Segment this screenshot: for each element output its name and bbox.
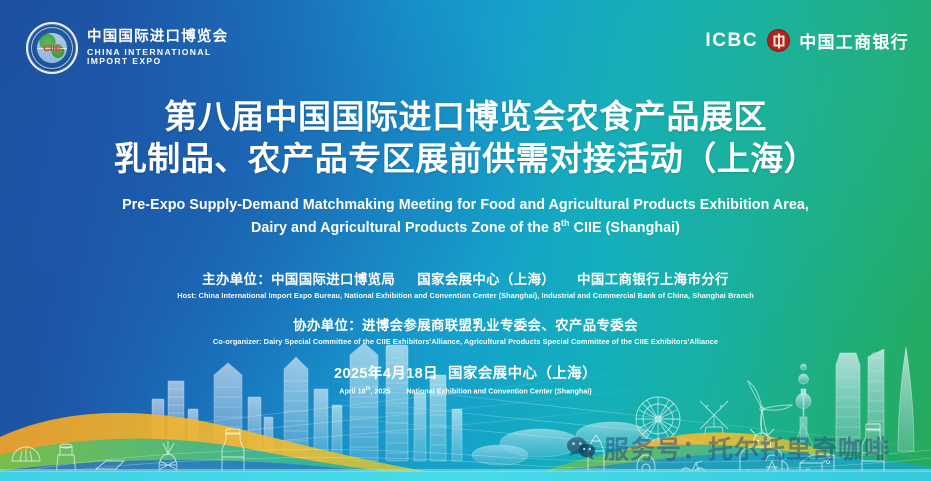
host-cn-3: 中国工商银行上海市分行 [577, 272, 729, 287]
ciie-logo-text: 中国国际进口博览会 CHINA INTERNATIONAL IMPORT EXP… [87, 30, 228, 66]
title-en-line2-a: Dairy and Agricultural Products Zone of … [251, 220, 561, 236]
title-cn-line1: 第八届中国国际进口博览会农食产品展区 [0, 96, 931, 138]
host-cn-1: 中国国际进口博览局 [271, 272, 395, 287]
title-en-line1: Pre-Expo Supply-Demand Matchmaking Meeti… [0, 194, 931, 216]
host-en: Host: China International Import Expo Bu… [0, 291, 931, 300]
icbc-emblem-icon [767, 29, 790, 52]
host-cn-label: 主办单位： [202, 272, 271, 287]
ciie-seal-text: CIIE [43, 43, 61, 54]
title-cn-line2: 乳制品、农产品专区展前供需对接活动（上海） [0, 138, 931, 180]
ciie-name-en: CHINA INTERNATIONAL IMPORT EXPO [87, 48, 228, 67]
event-poster: CIIE 中国国际进口博览会 CHINA INTERNATIONAL IMPOR… [0, 0, 931, 481]
ciie-logo: CIIE 中国国际进口博览会 CHINA INTERNATIONAL IMPOR… [26, 22, 228, 74]
icbc-name-cn: 中国工商银行 [799, 28, 909, 53]
ciie-name-cn: 中国国际进口博览会 [87, 30, 228, 46]
ciie-name-en-line2: IMPORT EXPO [87, 57, 228, 66]
title-block: 第八届中国国际进口博览会农食产品展区 乳制品、农产品专区展前供需对接活动（上海）… [0, 96, 931, 239]
host-row: 主办单位：中国国际进口博览局国家会展中心（上海）中国工商银行上海市分行 Host… [0, 268, 931, 300]
title-en-line2: Dairy and Agricultural Products Zone of … [0, 217, 931, 239]
title-en: Pre-Expo Supply-Demand Matchmaking Meeti… [0, 194, 931, 238]
title-en-line2-b: CIIE (Shanghai) [570, 220, 680, 236]
poster-header: CIIE 中国国际进口博览会 CHINA INTERNATIONAL IMPOR… [0, 0, 931, 86]
icbc-latin-text: ICBC [705, 30, 758, 52]
icbc-logo: ICBC 中国工商银行 [705, 28, 909, 53]
host-cn-2: 国家会展中心（上海） [417, 272, 555, 287]
ciie-seal-icon: CIIE [26, 22, 78, 74]
title-en-ordinal: th [561, 218, 570, 228]
host-cn: 主办单位：中国国际进口博览局国家会展中心（上海）中国工商银行上海市分行 [0, 268, 931, 288]
bottom-illustration [0, 331, 931, 481]
